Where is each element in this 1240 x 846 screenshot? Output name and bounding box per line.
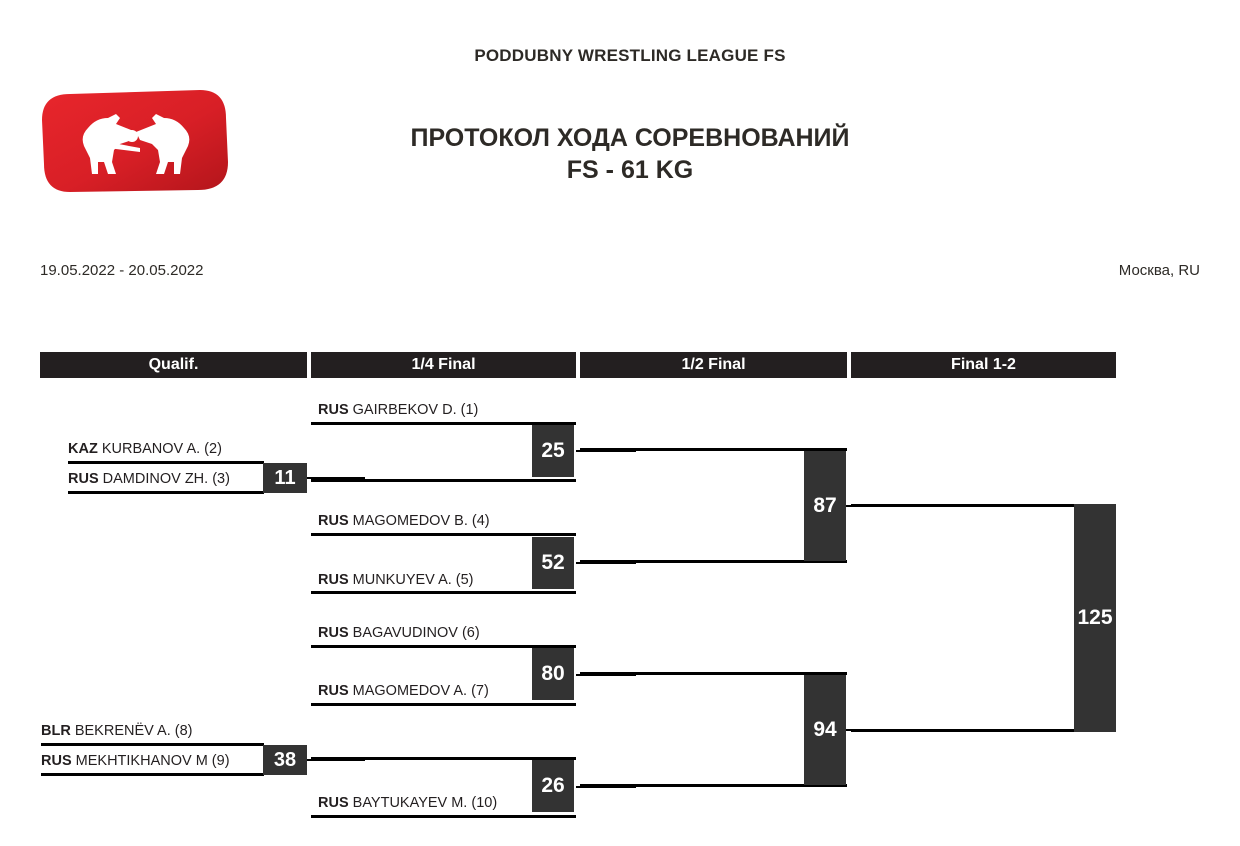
quarterfinal-4-bottom-competitor: RUS BAYTUKAYEV M. (10) bbox=[318, 795, 497, 811]
qualif-2-top-competitor: BLR BEKRENËV A. (8) bbox=[41, 723, 193, 739]
quarterfinal-2-top-name: MAGOMEDOV B. (4) bbox=[353, 513, 490, 529]
final-bout-number[interactable]: 125 bbox=[1074, 504, 1116, 732]
qualif-1-top-name: KURBANOV A. (2) bbox=[102, 441, 222, 457]
qualif-2-divider-line bbox=[41, 743, 264, 746]
quarterfinal-1-top-country: RUS bbox=[318, 402, 353, 418]
qualif-2-bout-number[interactable]: 38 bbox=[263, 745, 307, 775]
qualif-2-bottom-line bbox=[41, 773, 264, 776]
qualif-2-bottom-name: MEKHTIKHANOV M (9) bbox=[76, 753, 230, 769]
quarterfinal-3-top-country: RUS bbox=[318, 625, 353, 641]
quarterfinal-3-bout-number[interactable]: 80 bbox=[532, 648, 574, 700]
quarterfinal-3-bottom-competitor: RUS MAGOMEDOV A. (7) bbox=[318, 683, 489, 699]
qualif-1-bottom-line bbox=[68, 491, 264, 494]
quarterfinal-1-bout-number[interactable]: 25 bbox=[532, 425, 574, 477]
qualif-1-top-competitor: KAZ KURBANOV A. (2) bbox=[68, 441, 222, 457]
quarterfinal-3-top-name: BAGAVUDINOV (6) bbox=[353, 625, 480, 641]
quarterfinal-4-bottom-name: BAYTUKAYEV M. (10) bbox=[353, 795, 498, 811]
semifinal-2-bout-number[interactable]: 94 bbox=[804, 675, 846, 785]
quarterfinal-2-bottom-competitor: RUS MUNKUYEV A. (5) bbox=[318, 572, 474, 588]
quarterfinal-4-bottom-line bbox=[311, 815, 576, 818]
qualif-1-bottom-country: RUS bbox=[68, 471, 103, 487]
qualif-2-bottom-country: RUS bbox=[41, 753, 76, 769]
qualif-1-top-country: KAZ bbox=[68, 441, 102, 457]
quarterfinal-3-bottom-name: MAGOMEDOV A. (7) bbox=[353, 683, 489, 699]
qualif-1-bottom-competitor: RUS DAMDINOV ZH. (3) bbox=[68, 471, 230, 487]
quarterfinal-4-bottom-country: RUS bbox=[318, 795, 353, 811]
quarterfinal-1-bottom-line bbox=[311, 479, 576, 482]
quarterfinal-2-top-country: RUS bbox=[318, 513, 353, 529]
qualif-2-top-name: BEKRENËV A. (8) bbox=[75, 723, 193, 739]
quarterfinal-2-top-line bbox=[311, 533, 576, 536]
qualif-1-bottom-name: DAMDINOV ZH. (3) bbox=[103, 471, 230, 487]
quarterfinal-2-bottom-line bbox=[311, 591, 576, 594]
tournament-bracket: KAZ KURBANOV A. (2) RUS DAMDINOV ZH. (3)… bbox=[0, 0, 1240, 846]
qualif-2-top-country: BLR bbox=[41, 723, 75, 739]
quarterfinal-4-bout-number[interactable]: 26 bbox=[532, 760, 574, 812]
qualif-1-divider-line bbox=[68, 461, 264, 464]
quarterfinal-2-bout-number[interactable]: 52 bbox=[532, 537, 574, 589]
quarterfinal-1-top-name: GAIRBEKOV D. (1) bbox=[353, 402, 479, 418]
quarterfinal-3-top-competitor: RUS BAGAVUDINOV (6) bbox=[318, 625, 480, 641]
qualif-1-bout-number[interactable]: 11 bbox=[263, 463, 307, 493]
quarterfinal-3-bottom-line bbox=[311, 703, 576, 706]
qualif-2-bottom-competitor: RUS MEKHTIKHANOV M (9) bbox=[41, 753, 230, 769]
quarterfinal-2-bottom-country: RUS bbox=[318, 572, 353, 588]
quarterfinal-2-bottom-name: MUNKUYEV A. (5) bbox=[353, 572, 474, 588]
quarterfinal-3-bottom-country: RUS bbox=[318, 683, 353, 699]
quarterfinal-2-top-competitor: RUS MAGOMEDOV B. (4) bbox=[318, 513, 490, 529]
semifinal-1-bout-number[interactable]: 87 bbox=[804, 451, 846, 561]
quarterfinal-1-top-competitor: RUS GAIRBEKOV D. (1) bbox=[318, 402, 478, 418]
